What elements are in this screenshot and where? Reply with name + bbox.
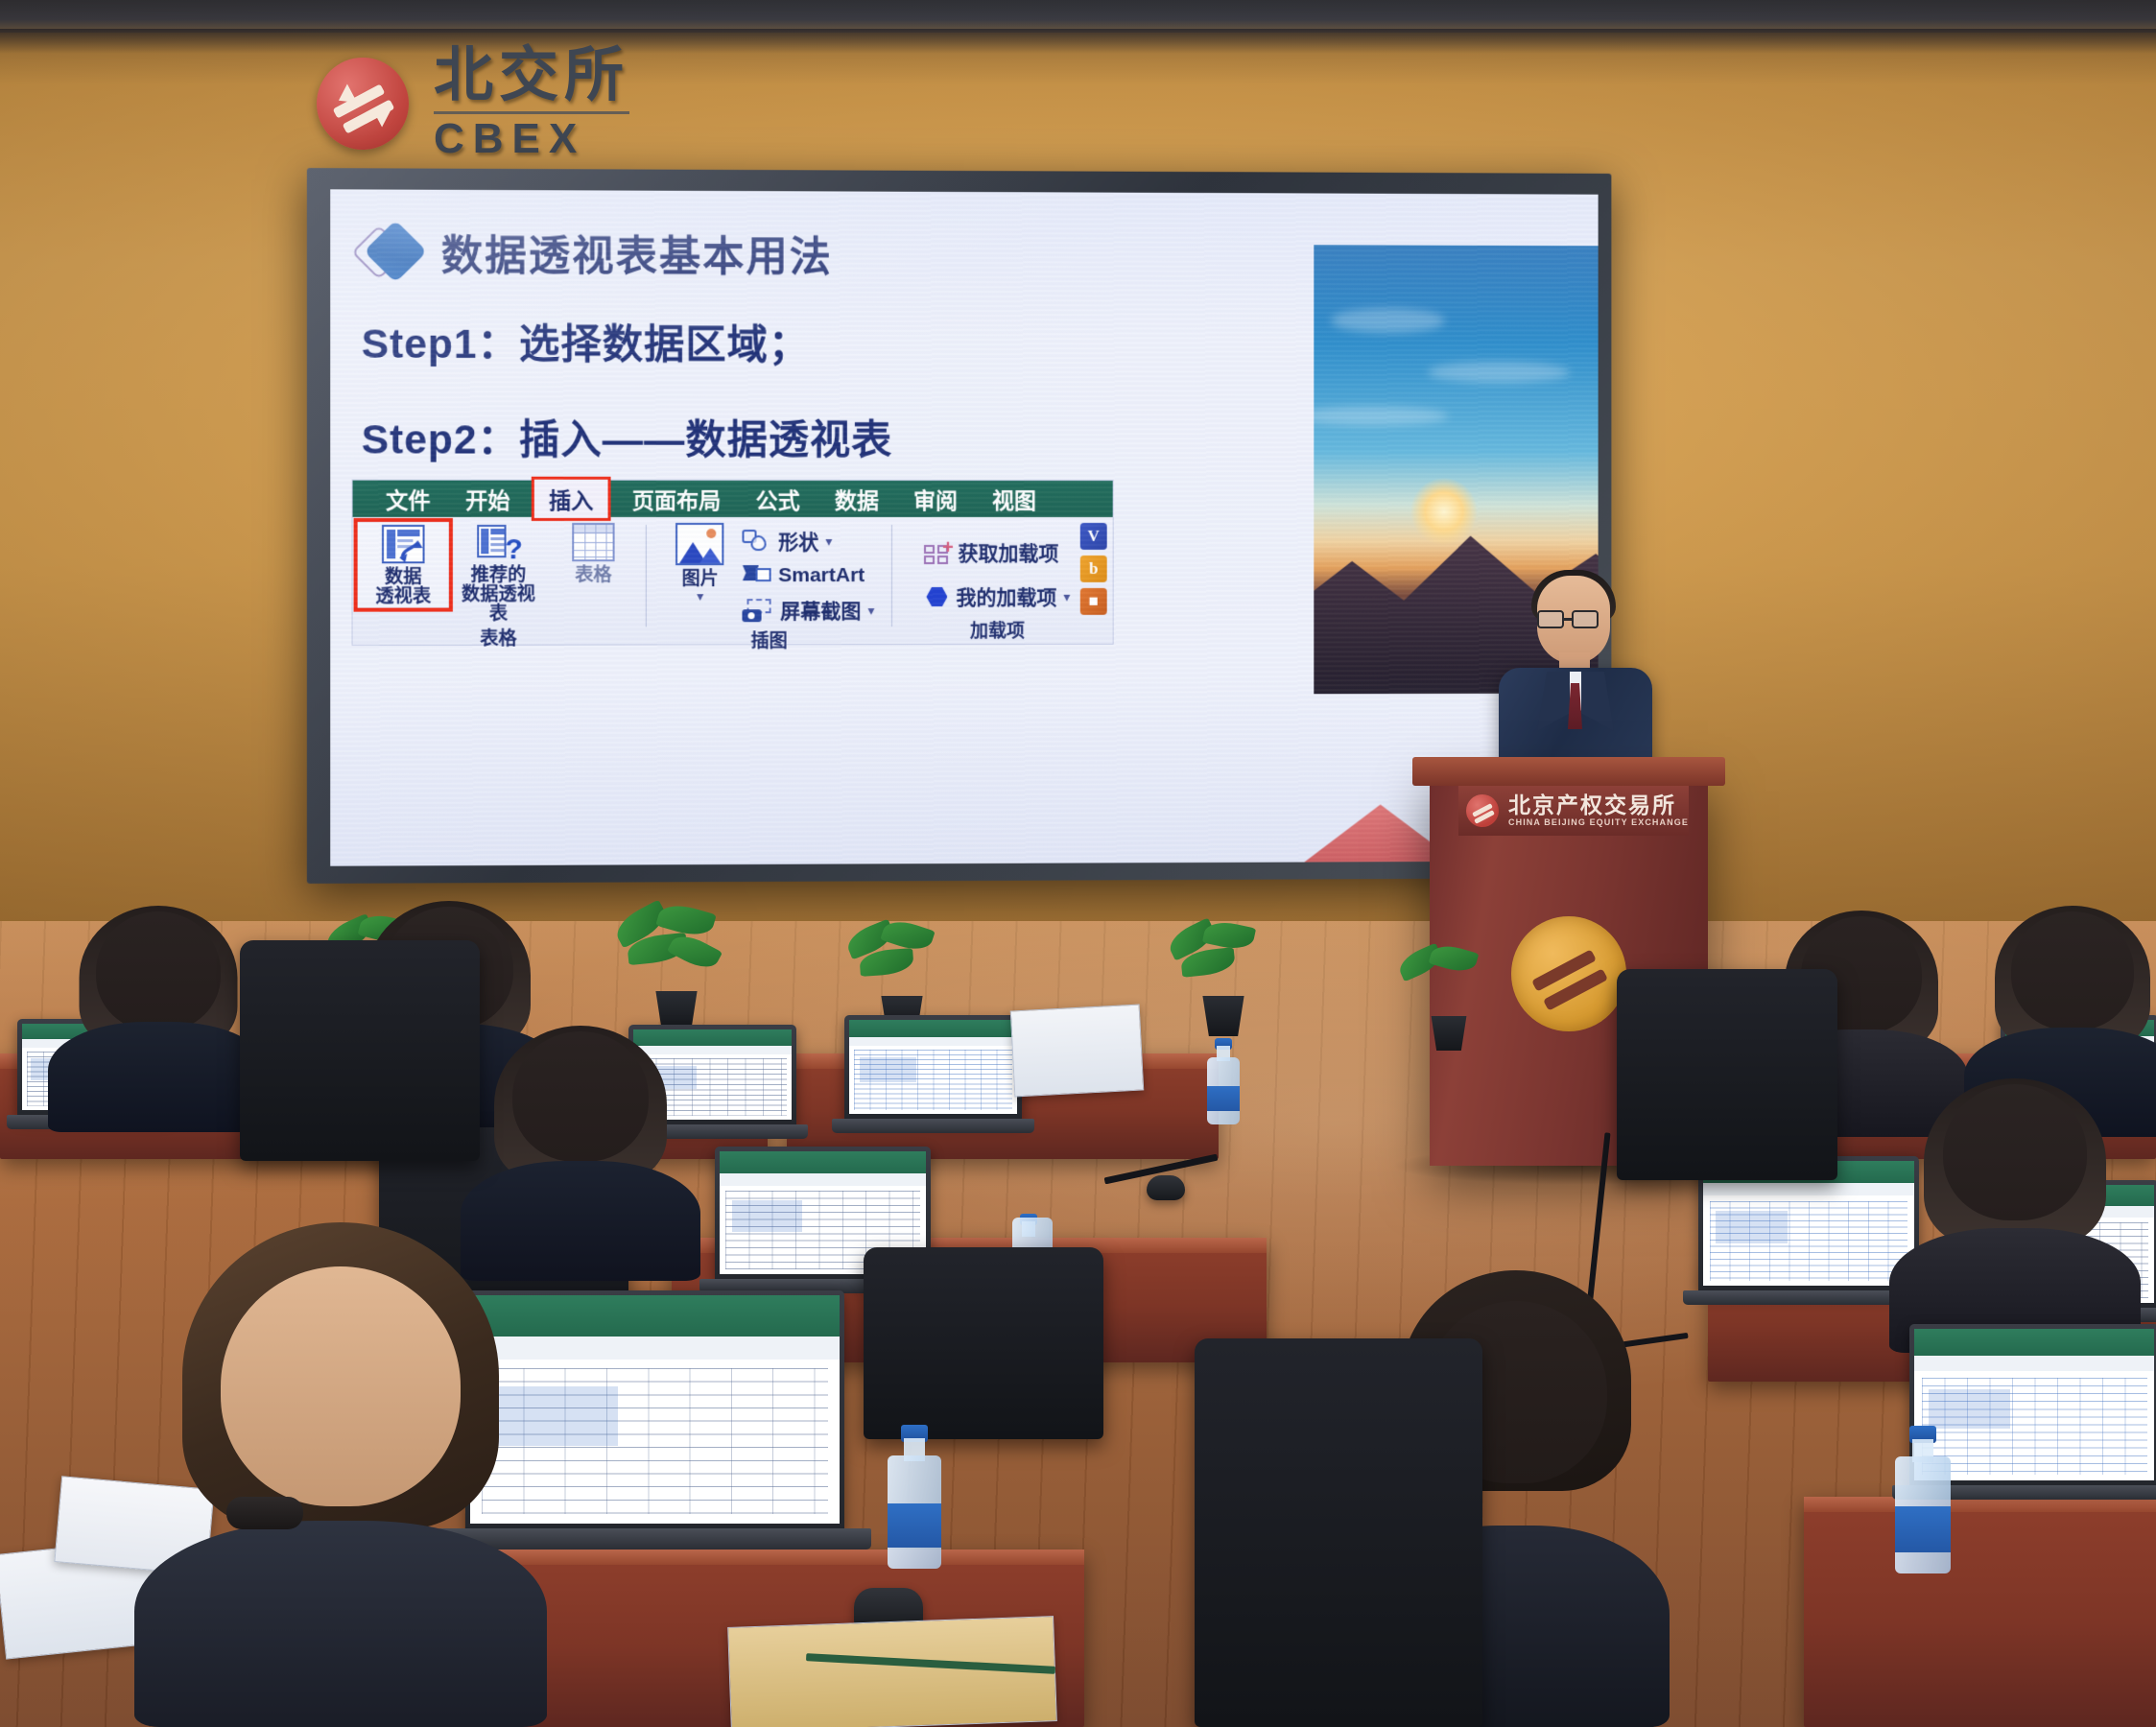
glasses-bridge <box>1564 618 1572 621</box>
smartart-label: SmartArt <box>778 564 865 587</box>
potted-plant <box>1166 921 1281 1036</box>
my-addins-caret-icon[interactable]: ▾ <box>1063 588 1070 604</box>
shapes-button[interactable]: 形状 ▾ <box>743 525 874 557</box>
pivot-table-icon <box>382 525 425 563</box>
water-bottle <box>888 1420 941 1569</box>
ribbon-separator <box>891 525 892 627</box>
potted-plant <box>1396 945 1502 1051</box>
get-addins-icon: + <box>924 541 951 564</box>
potted-plant <box>614 907 739 1031</box>
shapes-caret-icon[interactable]: ▾ <box>825 533 832 550</box>
ribbon-group-addins: + 获取加载项 我的加载项 ▾ <box>894 517 1101 646</box>
chair <box>1195 1338 1482 1727</box>
cbex-logo-text: 北交所 CBEX <box>434 46 629 160</box>
ribbon-tab-file[interactable]: 文件 <box>368 479 448 519</box>
pivot-table-label: 数据 透视表 <box>375 568 431 606</box>
recommended-pivot-table-icon: ? <box>477 523 519 561</box>
bing-icon[interactable]: b <box>1080 556 1107 582</box>
screenshot-icon <box>743 599 773 622</box>
slide-step-2: Step2：插入——数据透视表 <box>330 407 1598 466</box>
ribbon-tab-bar: 文件 开始 插入 页面布局 公式 数据 审阅 视图 <box>353 481 1113 517</box>
get-addins-button[interactable]: + 获取加载项 <box>924 536 1070 569</box>
slide-step-1: Step1：选择数据区域； <box>330 311 1598 372</box>
water-bottle <box>1207 1036 1240 1124</box>
ribbon-tab-page-layout[interactable]: 页面布局 <box>615 479 739 519</box>
classroom-scene: 北交所 CBEX 数据透视表基本用法 Step1：选择数据区域 <box>0 0 2156 1727</box>
foreground-attendee-person <box>134 1228 547 1727</box>
ribbon-group-label-tables: 表格 <box>480 624 516 652</box>
table-label: 表格 <box>575 566 611 585</box>
people-icon[interactable]: ■ <box>1080 588 1107 615</box>
attendee-person <box>1900 1084 2130 1353</box>
water-bottle <box>1895 1420 1951 1573</box>
screenshot-caret-icon[interactable]: ▾ <box>867 603 874 619</box>
cbex-swirl-logo-icon <box>317 58 409 150</box>
get-addins-label: 获取加载项 <box>958 538 1058 567</box>
recommended-pivot-table-button[interactable]: ? 推荐的 数据透视表 <box>454 523 543 624</box>
podium-nameplate: 北京产权交易所 CHINA BEIJING EQUITY EXCHANGE <box>1458 786 1689 836</box>
glasses-right-icon <box>1572 610 1599 628</box>
smartart-button[interactable]: SmartArt <box>743 559 874 592</box>
ribbon-tab-view[interactable]: 视图 <box>975 479 1054 519</box>
ribbon-tab-formulas[interactable]: 公式 <box>738 479 817 519</box>
ribbon-tab-home[interactable]: 开始 <box>448 479 528 519</box>
glasses-left-icon <box>1537 610 1564 628</box>
slide-surface: 数据透视表基本用法 Step1：选择数据区域； Step2：插入——数据透视表 … <box>330 189 1598 865</box>
pivot-arrow-icon <box>398 538 423 563</box>
my-addins-button[interactable]: 我的加载项 ▾ <box>924 580 1070 613</box>
cbex-logo-en: CBEX <box>434 111 629 160</box>
my-addins-icon <box>924 585 949 608</box>
recommended-pivot-table-label: 推荐的 数据透视表 <box>454 566 543 624</box>
ribbon-group-tables: 数据 透视表 ? 推荐的 数据透视表 <box>353 517 644 647</box>
my-addins-label: 我的加载项 <box>956 582 1056 611</box>
pivot-table-button[interactable]: 数据 透视表 <box>359 523 448 607</box>
printed-handout <box>1010 1005 1145 1098</box>
office-app-icons: V b ■ <box>1080 523 1107 615</box>
ribbon-body: 数据 透视表 ? 推荐的 数据透视表 <box>353 517 1113 647</box>
ribbon-group-illustrations: 图片 ▾ 形状 ▾ <box>649 517 889 647</box>
cbex-wall-logo: 北交所 CBEX <box>317 46 629 160</box>
attendee-person <box>58 911 259 1132</box>
blue-diamond-icon <box>358 223 426 283</box>
computer-mouse[interactable] <box>1147 1175 1185 1200</box>
table-icon <box>572 523 614 561</box>
slide-title-row: 数据透视表基本用法 <box>330 223 1598 286</box>
excel-ribbon-screenshot: 文件 开始 插入 页面布局 公式 数据 审阅 视图 <box>352 480 1114 646</box>
podium-top <box>1412 757 1725 786</box>
table-button[interactable]: 表格 <box>549 523 638 585</box>
laptop[interactable] <box>844 1015 1022 1121</box>
ribbon-tab-review[interactable]: 审阅 <box>896 479 975 519</box>
hair-tie <box>226 1497 303 1529</box>
visio-icon[interactable]: V <box>1080 523 1107 550</box>
picture-label: 图片 <box>682 570 719 589</box>
chair <box>864 1247 1103 1439</box>
cbex-emblem-icon <box>1511 916 1626 1031</box>
chair <box>240 940 480 1161</box>
picture-button[interactable]: 图片 ▾ <box>663 523 736 603</box>
ribbon-tab-data[interactable]: 数据 <box>817 479 896 519</box>
smartart-icon <box>743 564 771 587</box>
picture-dropdown-caret-icon[interactable]: ▾ <box>697 589 703 603</box>
screenshot-label: 屏幕截图 <box>780 596 861 625</box>
cbex-logo-cn: 北交所 <box>434 46 629 106</box>
slide-content: 数据透视表基本用法 Step1：选择数据区域； Step2：插入——数据透视表 … <box>330 189 1598 865</box>
ribbon-group-label-addins: 加载项 <box>970 617 1025 646</box>
desk-row-near-right <box>1804 1497 2156 1727</box>
shapes-icon <box>743 530 771 553</box>
podium-org-cn: 北京产权交易所 <box>1508 793 1689 816</box>
picture-icon <box>676 523 724 565</box>
cbex-mini-logo-icon <box>1466 794 1499 827</box>
ribbon-tab-insert[interactable]: 插入 <box>533 479 609 519</box>
podium-org-en: CHINA BEIJING EQUITY EXCHANGE <box>1508 818 1689 827</box>
screenshot-button[interactable]: 屏幕截图 ▾ <box>743 594 874 627</box>
ribbon-group-label-illustrations: 插图 <box>750 627 787 655</box>
chair <box>1617 969 1837 1180</box>
slide-title: 数据透视表基本用法 <box>441 223 833 284</box>
shapes-label: 形状 <box>778 527 818 556</box>
